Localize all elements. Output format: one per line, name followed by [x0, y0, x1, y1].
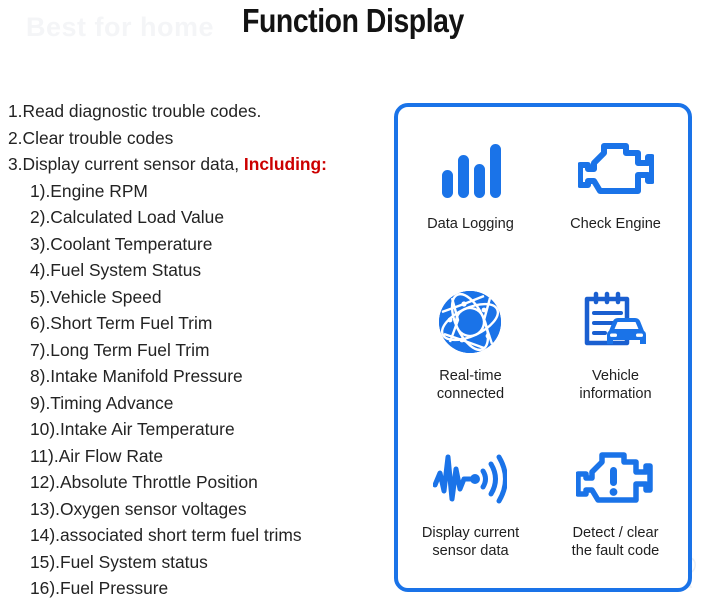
- list-item-label: Fuel System status: [60, 552, 208, 572]
- list-item-label: Calculated Load Value: [50, 207, 224, 227]
- feature-cell-display-sensor-data[interactable]: Display current sensor data: [422, 446, 519, 586]
- list-item: 1).Engine RPM: [8, 178, 380, 205]
- list-item-label: Clear trouble codes: [23, 128, 174, 148]
- list-item-number: 10).: [30, 419, 60, 439]
- list-item: 9).Timing Advance: [8, 390, 380, 417]
- list-item-label: Intake Air Temperature: [60, 419, 235, 439]
- list-item-number: 12).: [30, 472, 60, 492]
- list-item-number: 1.: [8, 101, 23, 121]
- list-item-highlight: Including:: [244, 154, 327, 174]
- list-item-label: Timing Advance: [50, 393, 173, 413]
- list-item: 2).Calculated Load Value: [8, 204, 380, 231]
- check-engine-icon: [578, 137, 654, 203]
- list-item-label: Air Flow Rate: [59, 446, 163, 466]
- list-item-label: Vehicle Speed: [50, 287, 161, 307]
- list-item-number: 3).: [30, 234, 50, 254]
- list-item: 1.Read diagnostic trouble codes.: [8, 98, 380, 125]
- globe-network-icon: [438, 289, 502, 355]
- list-item-number: 11).: [30, 446, 59, 466]
- feature-cell-data-logging[interactable]: Data Logging: [427, 137, 514, 289]
- bar-chart-icon: [439, 137, 501, 203]
- feature-panel: Data Logging Check Engine: [394, 103, 692, 592]
- list-item-label: Coolant Temperature: [50, 234, 212, 254]
- list-item: 13).Oxygen sensor voltages: [8, 496, 380, 523]
- list-item: 12).Absolute Throttle Position: [8, 469, 380, 496]
- list-item: 3).Coolant Temperature: [8, 231, 380, 258]
- list-item: 14).associated short term fuel trims: [8, 522, 380, 549]
- list-item-label: Read diagnostic trouble codes.: [23, 101, 262, 121]
- list-item: 5).Vehicle Speed: [8, 284, 380, 311]
- list-item-label: Display current sensor data,: [23, 154, 244, 174]
- waveform-signal-icon: [433, 446, 507, 512]
- list-item-number: 16).: [30, 578, 60, 598]
- list-item-number: 7).: [30, 340, 50, 360]
- list-item-number: 8).: [30, 366, 50, 386]
- list-item-number: 6).: [30, 313, 50, 333]
- list-item: 7).Long Term Fuel Trim: [8, 337, 380, 364]
- feature-cell-label: Detect / clear the fault code: [572, 525, 660, 560]
- feature-cell-label: Vehicle information: [579, 368, 651, 403]
- list-item: 3.Display current sensor data, Including…: [8, 151, 380, 178]
- list-item-label: Fuel System Status: [50, 260, 201, 280]
- list-item-number: 1).: [30, 181, 50, 201]
- features-list: 1.Read diagnostic trouble codes. 2.Clear…: [8, 98, 380, 602]
- list-item: 16).Fuel Pressure: [8, 575, 380, 602]
- feature-cell-label: Data Logging: [427, 216, 514, 234]
- list-item: 10).Intake Air Temperature: [8, 416, 380, 443]
- list-item-number: 9).: [30, 393, 50, 413]
- list-item-label: Intake Manifold Pressure: [50, 366, 242, 386]
- feature-cell-vehicle-information[interactable]: Vehicle information: [579, 289, 651, 446]
- list-item-number: 4).: [30, 260, 50, 280]
- feature-cell-check-engine[interactable]: Check Engine: [570, 137, 661, 289]
- feature-grid: Data Logging Check Engine: [398, 137, 688, 586]
- list-item-label: Short Term Fuel Trim: [50, 313, 212, 333]
- list-item: 2.Clear trouble codes: [8, 125, 380, 152]
- list-item-number: 5).: [30, 287, 50, 307]
- list-item-label: associated short term fuel trims: [60, 525, 302, 545]
- list-item-number: 13).: [30, 499, 60, 519]
- list-item-label: Absolute Throttle Position: [60, 472, 258, 492]
- list-item: 15).Fuel System status: [8, 549, 380, 576]
- list-item-number: 14).: [30, 525, 60, 545]
- list-item-label: Oxygen sensor voltages: [60, 499, 247, 519]
- list-item-number: 15).: [30, 552, 60, 572]
- engine-alert-icon: [576, 446, 654, 512]
- feature-cell-realtime-connected[interactable]: Real-time connected: [437, 289, 504, 446]
- list-item: 11).Air Flow Rate: [8, 443, 380, 470]
- list-item-number: 2.: [8, 128, 23, 148]
- list-item-label: Fuel Pressure: [60, 578, 168, 598]
- list-item: 4).Fuel System Status: [8, 257, 380, 284]
- feature-cell-label: Display current sensor data: [422, 525, 519, 560]
- list-item: 6).Short Term Fuel Trim: [8, 310, 380, 337]
- page-title: Function Display: [49, 2, 656, 40]
- list-item-label: Engine RPM: [50, 181, 148, 201]
- clipboard-car-icon: [583, 289, 647, 355]
- list-item-label: Long Term Fuel Trim: [50, 340, 209, 360]
- feature-cell-detect-clear-fault[interactable]: Detect / clear the fault code: [572, 446, 660, 586]
- feature-cell-label: Check Engine: [570, 216, 661, 234]
- list-item-number: 2).: [30, 207, 50, 227]
- list-item: 8).Intake Manifold Pressure: [8, 363, 380, 390]
- feature-cell-label: Real-time connected: [437, 368, 504, 403]
- list-item-number: 3.: [8, 154, 23, 174]
